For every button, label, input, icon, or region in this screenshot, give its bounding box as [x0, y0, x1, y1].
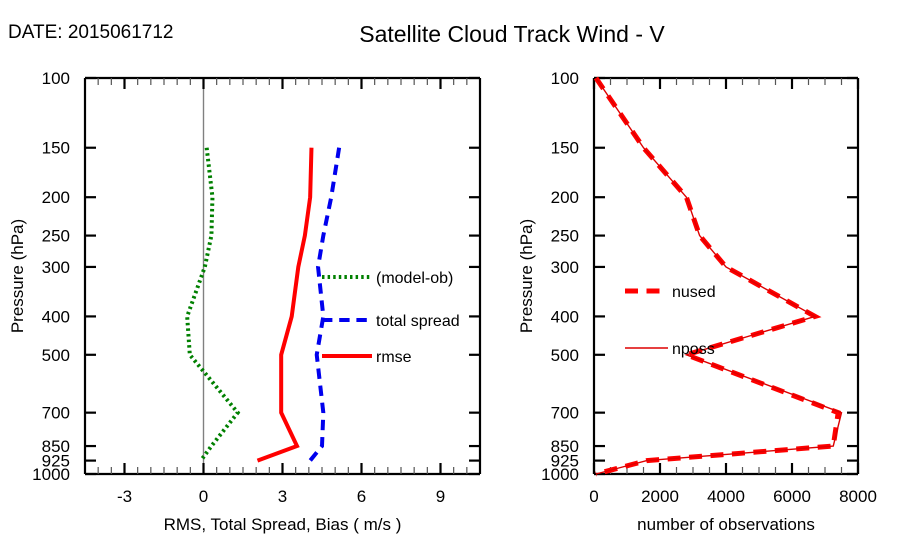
x-tick-label: -3 [117, 487, 132, 506]
figure-canvas: DATE: 2015061712 Satellite Cloud Track W… [0, 0, 900, 560]
y-axis-title: Pressure (hPa) [517, 219, 536, 333]
plot-figure: DATE: 2015061712 Satellite Cloud Track W… [0, 0, 900, 560]
page-title: Satellite Cloud Track Wind - V [359, 21, 665, 47]
y-tick-label: 700 [42, 404, 70, 423]
legend-label-nused[interactable]: nused [672, 284, 716, 301]
y-tick-label: 300 [42, 258, 70, 277]
date-label: DATE: 2015061712 [8, 22, 174, 43]
y-tick-label: 100 [42, 69, 70, 88]
y-tick-label: 200 [42, 188, 70, 207]
y-tick-label: 250 [42, 227, 70, 246]
y-tick-label: 500 [42, 346, 70, 365]
x-axis-title: number of observations [637, 515, 815, 534]
legend-label-total-spread[interactable]: total spread [376, 313, 460, 330]
y-tick-label: 100 [551, 69, 579, 88]
legend-label-rmse[interactable]: rmse [376, 349, 412, 366]
x-tick-label: 6 [357, 487, 366, 506]
y-tick-label: 1000 [541, 465, 579, 484]
y-axis-title: Pressure (hPa) [8, 219, 27, 333]
x-tick-label: 0 [589, 487, 598, 506]
x-tick-label: 8000 [839, 487, 877, 506]
x-tick-label: 2000 [641, 487, 679, 506]
y-tick-label: 500 [551, 346, 579, 365]
y-tick-label: 400 [42, 307, 70, 326]
x-tick-label: 0 [199, 487, 208, 506]
legend-label-nposs[interactable]: nposs [672, 341, 715, 358]
legend-label--model-ob-[interactable]: (model-ob) [376, 270, 453, 287]
x-tick-label: 6000 [773, 487, 811, 506]
x-axis-title: RMS, Total Spread, Bias ( m/s ) [164, 515, 402, 534]
y-tick-label: 300 [551, 258, 579, 277]
x-tick-label: 9 [436, 487, 445, 506]
y-tick-label: 150 [551, 139, 579, 158]
y-tick-label: 1000 [32, 465, 70, 484]
x-tick-label: 3 [278, 487, 287, 506]
y-tick-label: 400 [551, 307, 579, 326]
x-tick-label: 4000 [707, 487, 745, 506]
y-tick-label: 250 [551, 227, 579, 246]
y-tick-label: 700 [551, 404, 579, 423]
y-tick-label: 150 [42, 139, 70, 158]
y-tick-label: 200 [551, 188, 579, 207]
